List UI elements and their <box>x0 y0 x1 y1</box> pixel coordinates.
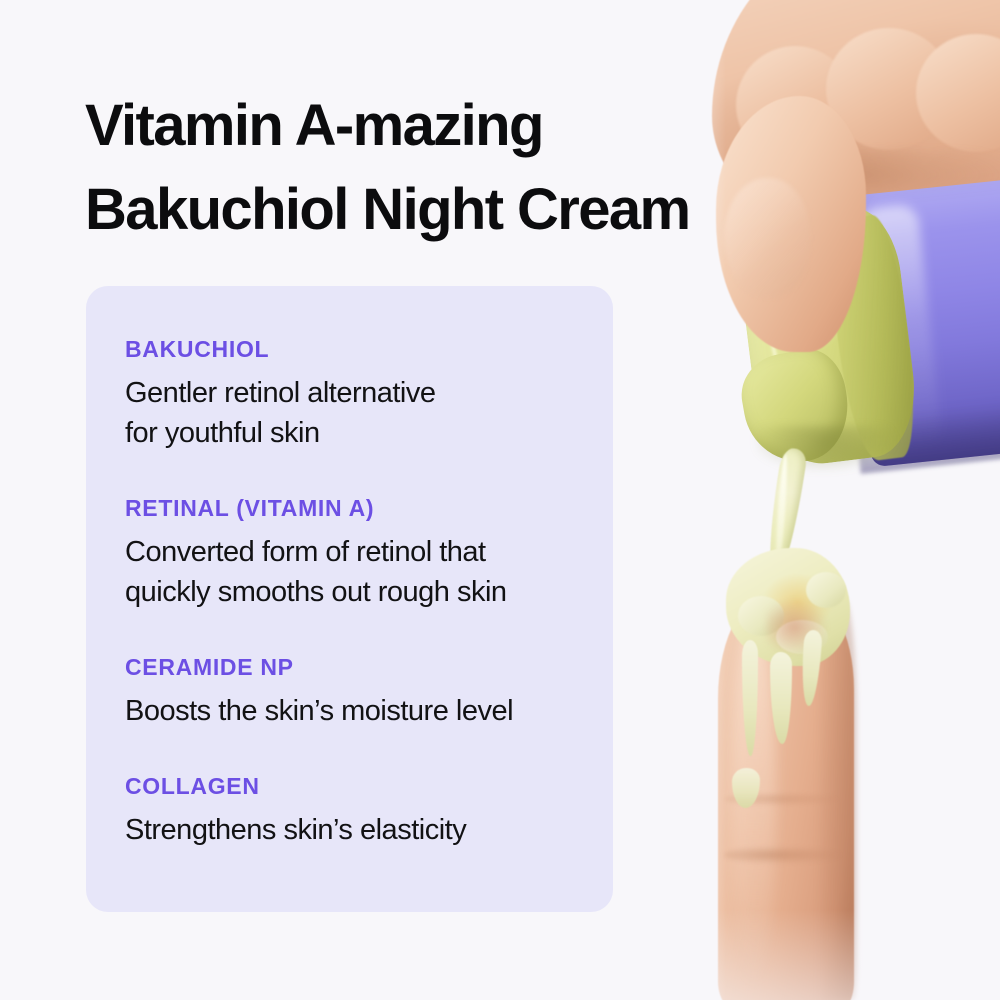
ingredient-name: COLLAGEN <box>125 771 595 801</box>
title-line-1: Vitamin A-mazing <box>85 84 805 168</box>
product-infographic: Vitamin A-mazing Bakuchiol Night Cream B… <box>0 0 1000 1000</box>
photo-edge-fade <box>620 910 1000 1000</box>
ingredient-description: Converted form of retinol that quickly s… <box>125 532 595 612</box>
ingredient-item: COLLAGEN Strengthens skin’s elasticity <box>125 771 595 850</box>
ingredient-item: RETINAL (VITAMIN A) Converted form of re… <box>125 493 595 612</box>
ingredient-description: Boosts the skin’s moisture level <box>125 691 595 731</box>
ingredient-description: Strengthens skin’s elasticity <box>125 810 595 850</box>
ingredients-card: BAKUCHIOL Gentler retinol alternative fo… <box>86 286 613 912</box>
ingredient-name: RETINAL (VITAMIN A) <box>125 493 595 523</box>
ingredient-name: CERAMIDE NP <box>125 652 595 682</box>
ingredients-list: BAKUCHIOL Gentler retinol alternative fo… <box>125 334 595 850</box>
cap-shadow <box>756 426 896 472</box>
ingredient-description: Gentler retinol alternative for youthful… <box>125 373 595 453</box>
title-line-2: Bakuchiol Night Cream <box>85 168 805 252</box>
ingredient-name: BAKUCHIOL <box>125 334 595 364</box>
finger-crease <box>724 846 842 864</box>
page-title: Vitamin A-mazing Bakuchiol Night Cream <box>85 84 805 252</box>
ingredient-item: BAKUCHIOL Gentler retinol alternative fo… <box>125 334 595 453</box>
ingredient-item: CERAMIDE NP Boosts the skin’s moisture l… <box>125 652 595 731</box>
